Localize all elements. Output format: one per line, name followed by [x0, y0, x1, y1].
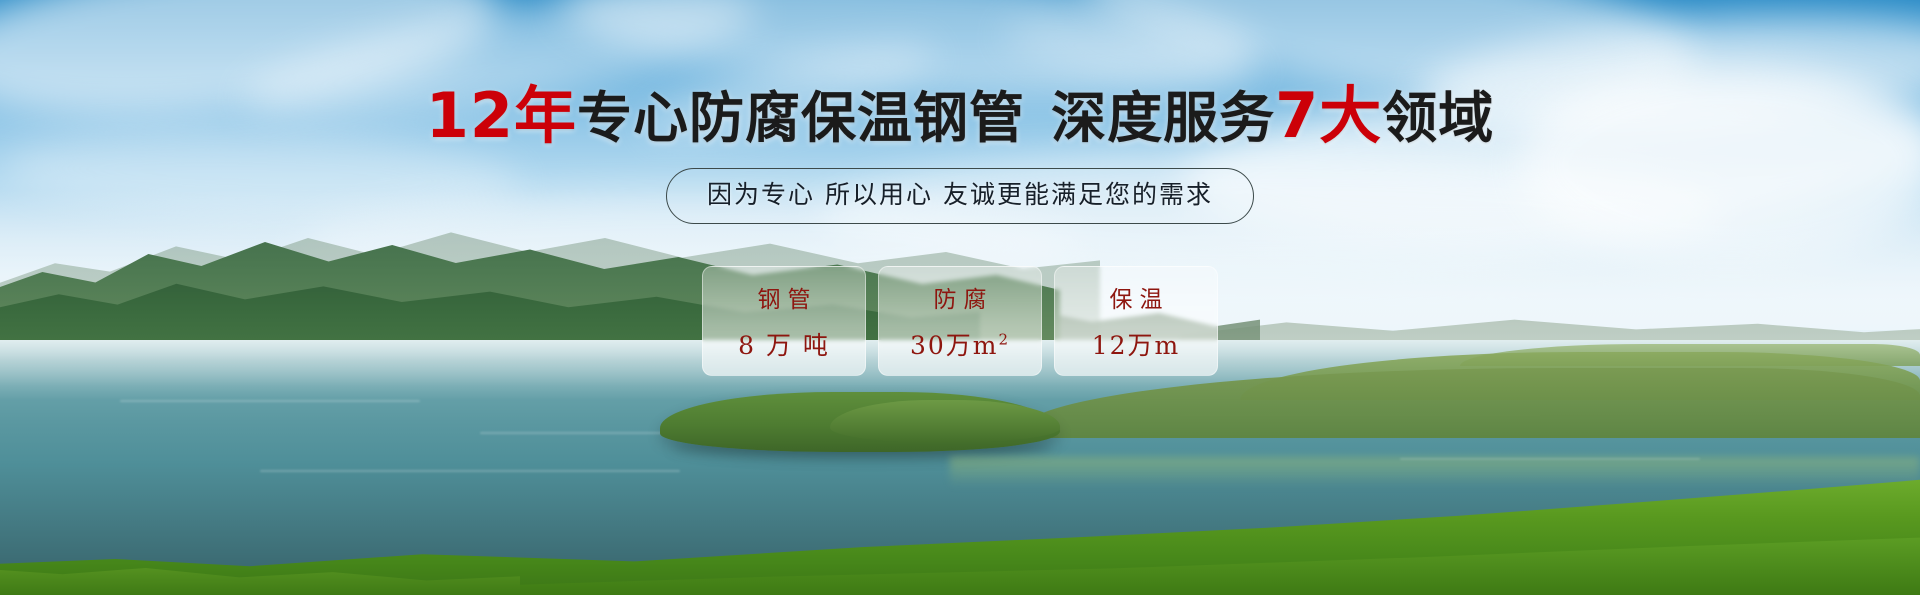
- stat-card-value-text: 12万m: [1092, 331, 1181, 360]
- stat-card-value: 8 万 吨: [738, 326, 830, 362]
- subtitle-pill: 因为专心 所以用心 友诚更能满足您的需求: [666, 168, 1254, 224]
- headline-years-number: 12: [426, 79, 514, 152]
- stat-card-value: 12万m: [1092, 326, 1181, 362]
- stat-card-steel-pipe[interactable]: 钢管 8 万 吨: [702, 266, 866, 376]
- shoreline-blend: [950, 457, 1920, 487]
- stat-card-group: 钢管 8 万 吨 防腐 30万m2 保温 12万m: [0, 266, 1920, 376]
- headline-part1-accent: 年: [514, 79, 577, 152]
- subtitle-wrapper: 因为专心 所以用心 友诚更能满足您的需求: [0, 168, 1920, 224]
- stat-card-title: 防腐: [927, 280, 994, 314]
- stat-card-title: 保温: [1103, 280, 1170, 314]
- stat-card-value: 30万m2: [910, 326, 1010, 362]
- stat-card-anticorrosion[interactable]: 防腐 30万m2: [878, 266, 1042, 376]
- headline-highlight: 7大: [1275, 79, 1382, 152]
- grass-islet-right: [830, 400, 1060, 442]
- headline-part2: 深度服务: [1051, 86, 1275, 150]
- stat-card-value-text: 8 万 吨: [738, 331, 830, 360]
- water-ripple: [120, 400, 420, 402]
- stat-card-value-text: 30万m: [910, 331, 999, 360]
- headline: 12年专心防腐保温钢管深度服务7大领域: [0, 84, 1920, 150]
- stat-card-insulation[interactable]: 保温 12万m: [1054, 266, 1218, 376]
- stat-card-value-superscript: 2: [998, 331, 1010, 349]
- hero-banner: 12年专心防腐保温钢管深度服务7大领域 因为专心 所以用心 友诚更能满足您的需求…: [0, 0, 1920, 595]
- headline-part1: 专心防腐保温钢管: [577, 86, 1025, 150]
- headline-part3: 领域: [1382, 86, 1494, 150]
- stat-card-title: 钢管: [751, 280, 818, 314]
- water-ripple: [260, 470, 680, 472]
